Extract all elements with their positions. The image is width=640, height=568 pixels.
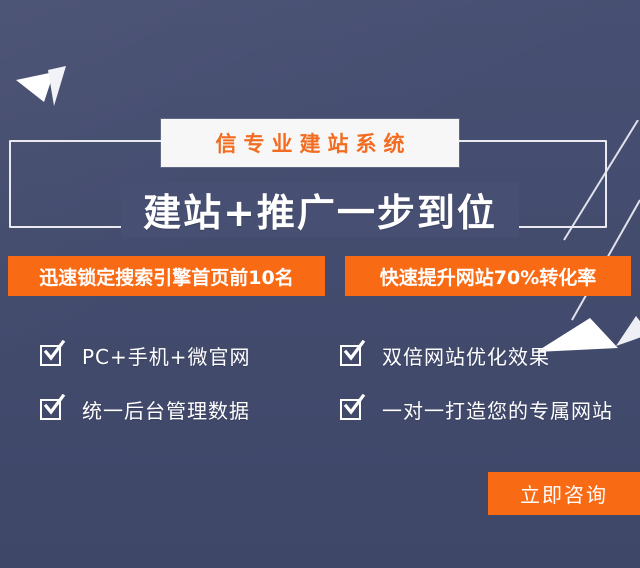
feature-item: PC+手机+微官网 xyxy=(0,328,320,382)
subtitle-text: 信专业建站系统 xyxy=(209,128,412,158)
subtitle-plate: 信专业建站系统 xyxy=(161,119,459,167)
claim-badge-right: 快速提升网站70%转化率 xyxy=(345,256,631,296)
promo-banner: 信专业建站系统 建站+推广一步到位 迅速锁定搜索引擎首页前10名 快速提升网站7… xyxy=(0,0,640,568)
feature-item: 统一后台管理数据 xyxy=(0,382,320,436)
feature-item: 一对一打造您的专属网站 xyxy=(320,382,640,436)
checkbox-checked-icon xyxy=(340,343,364,367)
feature-item-label: 一对一打造您的专属网站 xyxy=(382,395,613,424)
feature-item: 双倍网站优化效果 xyxy=(320,328,640,382)
headline-text: 建站+推广一步到位 xyxy=(121,182,519,237)
consult-now-button[interactable]: 立即咨询 xyxy=(488,472,640,515)
paper-plane-top-left-icon xyxy=(14,58,76,110)
checkbox-checked-icon xyxy=(340,397,364,421)
feature-list: PC+手机+微官网 双倍网站优化效果 统一后台管理数据 一对一打造您的专属网站 xyxy=(0,328,640,436)
feature-item-label: 双倍网站优化效果 xyxy=(382,341,550,370)
feature-item-label: 统一后台管理数据 xyxy=(82,395,250,424)
checkbox-checked-icon xyxy=(40,397,64,421)
checkbox-checked-icon xyxy=(40,343,64,367)
feature-item-label: PC+手机+微官网 xyxy=(82,341,251,370)
claim-badge-left: 迅速锁定搜索引擎首页前10名 xyxy=(8,256,325,296)
claims-row: 迅速锁定搜索引擎首页前10名 快速提升网站70%转化率 xyxy=(0,256,640,296)
headline-row: 建站+推广一步到位 xyxy=(0,182,640,236)
